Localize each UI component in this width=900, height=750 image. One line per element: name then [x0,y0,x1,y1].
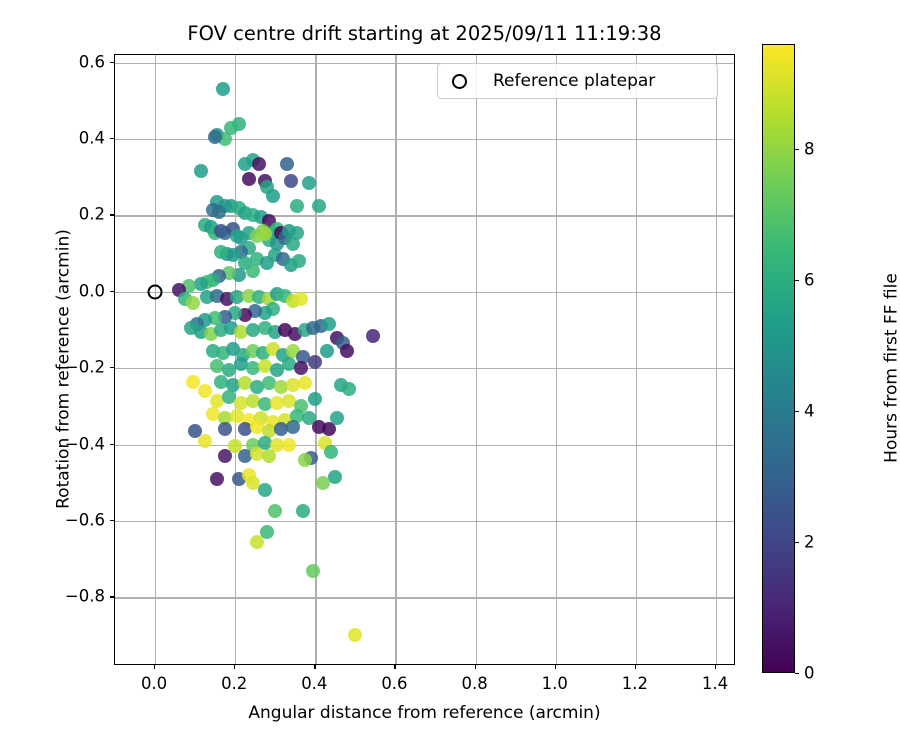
gridline-horizontal [115,368,734,369]
scatter-point [258,483,272,497]
scatter-point [218,422,232,436]
scatter-point [340,344,354,358]
scatter-point [296,504,310,518]
scatter-point [186,375,200,389]
x-tick-mark [154,665,155,669]
x-tick-label: 0.4 [301,674,327,693]
scatter-point [302,176,316,190]
chart-figure: FOV centre drift starting at 2025/09/11 … [0,0,900,750]
y-tick-mark [110,596,114,597]
y-tick-label: 0.4 [79,129,105,148]
scatter-point [194,277,208,291]
gridline-vertical [155,55,156,664]
y-tick-mark [110,291,114,292]
scatter-point [324,445,338,459]
gridline-vertical [476,55,477,664]
x-tick-mark [715,665,716,669]
x-tick-mark [394,665,395,669]
scatter-point [252,157,266,171]
y-tick-mark [110,62,114,63]
scatter-point [342,382,356,396]
x-tick-label: 0.0 [141,674,167,693]
gridline-horizontal [115,521,734,522]
scatter-point [268,504,282,518]
x-tick-label: 0.8 [461,674,487,693]
x-tick-mark [234,665,235,669]
gridline-horizontal [115,597,734,598]
x-tick-label: 1.0 [542,674,568,693]
scatter-point [282,438,296,452]
colorbar-tick-label: 4 [804,401,815,420]
x-tick-mark [555,665,556,669]
gridline-vertical [395,55,396,664]
y-tick-mark [110,138,114,139]
colorbar-tick-label: 2 [804,532,815,551]
scatter-point [306,564,320,578]
colorbar-tick-mark [795,542,799,543]
colorbar [762,44,795,673]
scatter-point [292,254,306,268]
y-tick-mark [110,520,114,521]
scatter-point [290,226,304,240]
y-tick-label: 0.6 [79,52,105,71]
scatter-point [308,392,322,406]
scatter-point [298,453,312,467]
scatter-point [246,264,260,278]
scatter-point [312,199,326,213]
y-tick-mark [110,444,114,445]
y-axis-label: Rotation from reference (arcmin) [54,64,74,675]
scatter-point [286,420,300,434]
scatter-point [214,245,228,259]
page-title: FOV centre drift starting at 2025/09/11 … [114,22,735,45]
y-tick-label: 0.2 [79,205,105,224]
scatter-point [208,130,222,144]
x-tick-label: 1.2 [622,674,648,693]
gridline-vertical [556,55,557,664]
scatter-point [330,411,344,425]
scatter-point [322,317,336,331]
x-axis-label: Angular distance from reference (arcmin) [114,703,735,723]
y-tick-label: 0.0 [79,281,105,300]
scatter-point [366,329,380,343]
colorbar-tick-mark [795,149,799,150]
scatter-point [216,82,230,96]
scatter-point [198,384,212,398]
x-tick-mark [635,665,636,669]
colorbar-label: Hours from first FF file [882,54,900,683]
gridline-vertical [636,55,637,664]
colorbar-tick-mark [795,673,799,674]
scatter-point [186,296,200,310]
x-tick-mark [475,665,476,669]
colorbar-tick-label: 6 [804,270,815,289]
scatter-point [348,628,362,642]
colorbar-gradient [763,45,794,672]
x-tick-mark [314,665,315,669]
scatter-point [238,157,252,171]
plot-area [114,54,735,665]
scatter-point [280,157,294,171]
scatter-point [328,470,342,484]
legend: Reference platepar [437,63,718,99]
x-tick-label: 0.2 [221,674,247,693]
scatter-point [212,205,226,219]
legend-label: Reference platepar [493,71,655,91]
scatter-point [284,174,298,188]
scatter-point [194,164,208,178]
scatter-point [258,227,272,241]
scatter-point [198,434,212,448]
gridline-horizontal [115,215,734,216]
colorbar-tick-label: 8 [804,139,815,158]
scatter-point [266,189,280,203]
scatter-point [250,535,264,549]
scatter-point [298,376,312,390]
colorbar-tick-mark [795,411,799,412]
scatter-point [242,172,256,186]
scatter-point [308,355,322,369]
y-tick-mark [110,367,114,368]
x-tick-label: 1.4 [702,674,728,693]
colorbar-tick-mark [795,280,799,281]
scatter-point [290,199,304,213]
scatter-point [262,449,276,463]
x-tick-label: 0.6 [381,674,407,693]
scatter-point [320,344,334,358]
scatter-point [218,449,232,463]
scatter-point [316,476,330,490]
scatter-point [294,361,308,375]
y-tick-mark [110,214,114,215]
scatter-point [294,292,308,306]
gridline-vertical [716,55,717,664]
scatter-point [210,472,224,486]
reference-platepar-marker [148,284,163,299]
colorbar-tick-label: 0 [804,664,815,683]
legend-open-circle-icon [452,74,467,89]
